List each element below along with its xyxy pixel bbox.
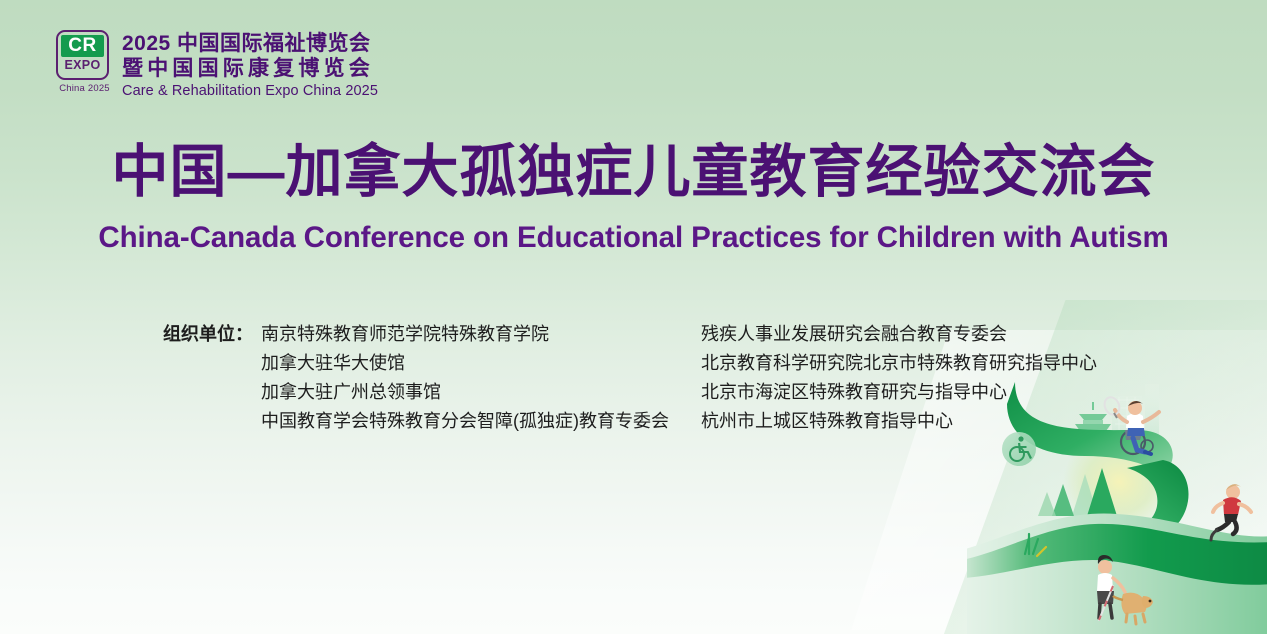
wheelchair-tennis-player — [1102, 395, 1159, 454]
organizers-left-column: 南京特殊教育师范学院特殊教育学院 加拿大驻华大使馆 加拿大驻广州总领事馆 中国教… — [261, 320, 701, 436]
expo-name-line2: 暨中国国际康复博览会 — [122, 56, 378, 81]
page-title-chinese: 中国—加拿大孤独症儿童教育经验交流会 — [112, 139, 1156, 205]
grass-tuft — [1025, 534, 1046, 556]
organizer-item: 加拿大驻华大使馆 — [261, 349, 701, 378]
organizers-block: 组织单位： 南京特殊教育师范学院特殊教育学院 加拿大驻华大使馆 加拿大驻广州总领… — [163, 320, 1097, 436]
organizers-right-column: 残疾人事业发展研究会融合教育专委会 北京教育科学研究院北京市特殊教育研究指导中心… — [701, 320, 1097, 436]
wheelchair-accessibility-icon — [1002, 432, 1036, 466]
running-athlete-with-prosthetic — [1211, 484, 1251, 540]
expo-logo-wordmark: 2025 中国国际福祉博览会 暨中国国际康复博览会 Care & Rehabil… — [122, 30, 378, 101]
organizer-item: 北京教育科学研究院北京市特殊教育研究指导中心 — [701, 349, 1097, 378]
organizer-item: 中国教育学会特殊教育分会智障(孤独症)教育专委会 — [261, 407, 701, 436]
expo-name-line1: 2025 中国国际福祉博览会 — [122, 31, 378, 56]
hill-front — [967, 524, 1267, 585]
conference-banner: CR EXPO China 2025 2025 中国国际福祉博览会 暨中国国际康… — [0, 0, 1267, 634]
cr-expo-badge: CR EXPO — [56, 30, 109, 80]
expo-logo-mark: CR EXPO China 2025 — [56, 30, 113, 95]
expo-badge-text: EXPO — [61, 57, 104, 74]
organizer-item: 杭州市上城区特殊教育指导中心 — [701, 407, 1097, 436]
organizer-item: 残疾人事业发展研究会融合教育专委会 — [701, 320, 1097, 349]
expo-name-english: Care & Rehabilitation Expo China 2025 — [122, 81, 378, 101]
city-skyline — [1097, 384, 1159, 454]
pine-trees — [1038, 468, 1117, 516]
person-with-guide-dog — [1097, 555, 1153, 624]
expo-logo-lockup: CR EXPO China 2025 2025 中国国际福祉博览会 暨中国国际康… — [56, 30, 378, 101]
china-year-text: China 2025 — [56, 82, 113, 95]
hill-back — [967, 514, 1267, 634]
page-title-english: China-Canada Conference on Educational P… — [98, 219, 1168, 257]
sun-glow — [1063, 430, 1175, 534]
green-ribbon-lower — [1077, 460, 1189, 547]
organizer-item: 南京特殊教育师范学院特殊教育学院 — [261, 320, 701, 349]
organizer-item: 北京市海淀区特殊教育研究与指导中心 — [701, 378, 1097, 407]
organizer-item: 加拿大驻广州总领事馆 — [261, 378, 701, 407]
organizers-label: 组织单位： — [163, 320, 253, 349]
cr-badge-text: CR — [61, 35, 104, 57]
